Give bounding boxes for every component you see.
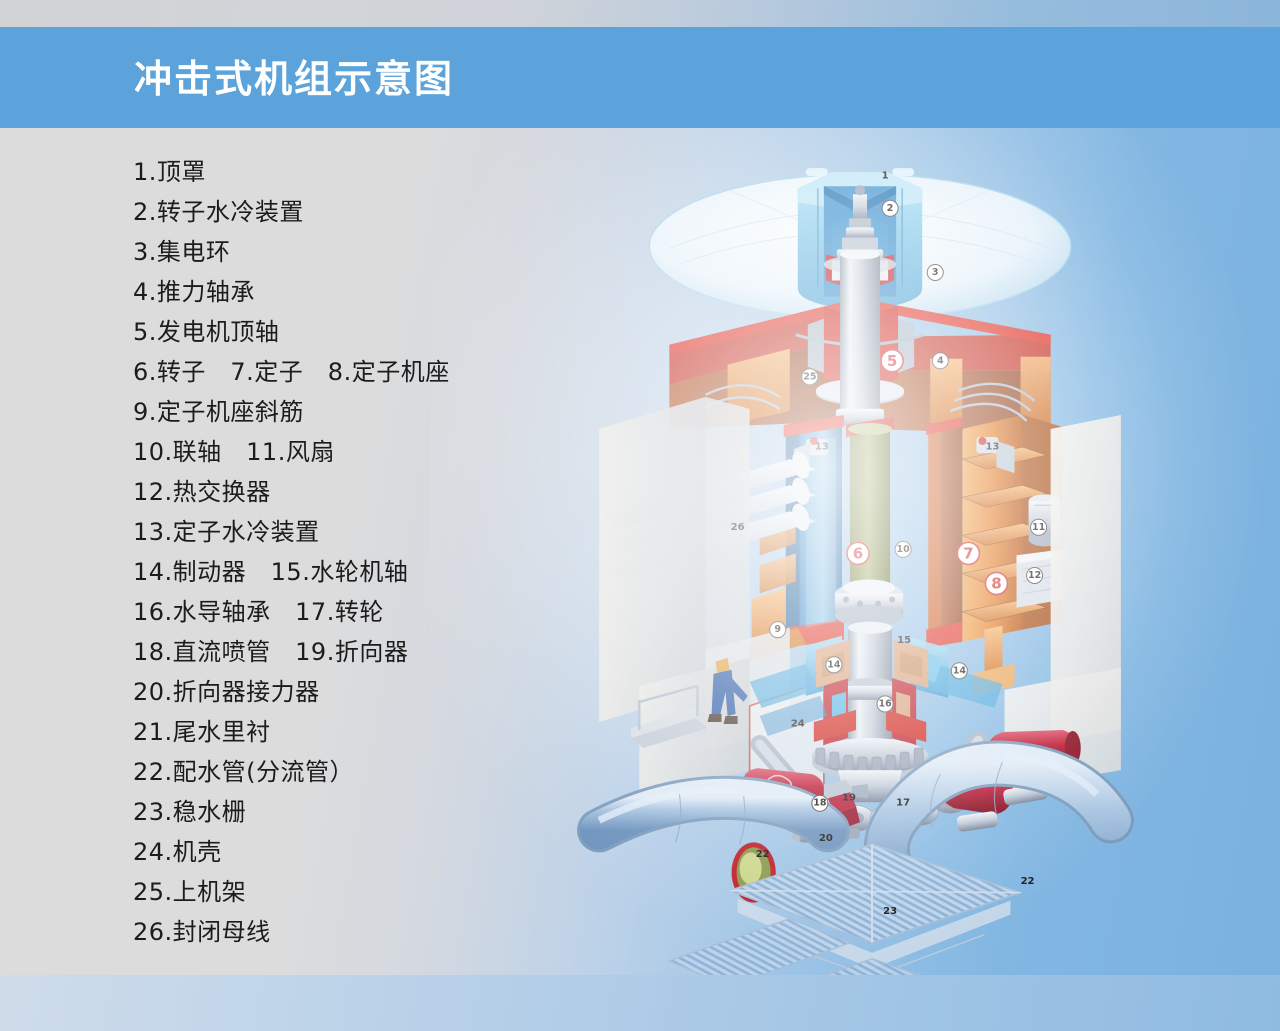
legend-item: 18.直流喷管 19.折向器: [133, 632, 533, 672]
callout-18: 18: [812, 795, 828, 811]
legend-item: 24.机壳: [133, 832, 533, 872]
callout-17: 17: [896, 798, 910, 809]
legend-item: 26.封闭母线: [133, 912, 533, 952]
legend-item: 23.稳水栅: [133, 792, 533, 832]
callout-number: 10: [897, 544, 911, 555]
rotor-pole-core: [846, 417, 894, 592]
coupling-10: [835, 580, 903, 627]
callout-13: 13: [815, 442, 829, 453]
legend-item: 4.推力轴承: [133, 272, 533, 312]
legend-item: 13.定子水冷装置: [133, 512, 533, 552]
callout-number: 14: [953, 665, 967, 676]
callout-number: 22: [756, 849, 770, 860]
legend-item: 20.折向器接力器: [133, 672, 533, 712]
callout-number: 13: [815, 442, 829, 453]
callout-number: 13: [985, 442, 999, 453]
callout-12: 12: [1027, 567, 1043, 583]
callout-15: 15: [897, 635, 911, 646]
callout-13: 13: [985, 442, 999, 453]
legend-item: 22.配水管(分流管）: [133, 752, 533, 792]
callout-number: 18: [813, 798, 827, 809]
slide-root: 1234567891011121313141415161718192022222…: [0, 0, 1280, 1031]
callout-number: 5: [887, 352, 897, 370]
legend-item: 2.转子水冷装置: [133, 192, 533, 232]
callout-number: 15: [897, 635, 911, 646]
callout-number: 14: [827, 659, 841, 670]
legend-item: 14.制动器 15.水轮机轴: [133, 552, 533, 592]
callout-22: 22: [1021, 876, 1035, 887]
callout-11: 11: [1031, 519, 1047, 535]
callout-number: 19: [842, 793, 856, 804]
callout-14: 14: [826, 657, 842, 673]
stator-7: [926, 417, 962, 648]
callout-number: 1: [882, 171, 889, 182]
callout-number: 22: [1021, 876, 1035, 887]
callout-8: 8: [985, 572, 1007, 594]
legend-item: 21.尾水里衬: [133, 712, 533, 752]
callout-number: 2: [887, 203, 894, 214]
generator-top-shaft-5: [836, 249, 884, 425]
callout-number: 16: [878, 698, 892, 709]
turbine-shaft-15: [844, 622, 896, 756]
slide-bottom-strip: [0, 975, 1280, 1031]
callout-16: 16: [877, 696, 893, 712]
callout-5: 5: [881, 350, 903, 372]
callout-26: 26: [731, 522, 745, 533]
legend-item: 25.上机架: [133, 872, 533, 912]
legend-item: 1.顶罩: [133, 152, 533, 192]
legend-item: 10.联轴 11.风扇: [133, 432, 533, 472]
page-title: 冲击式机组示意图: [134, 58, 454, 102]
callout-25: 25: [802, 369, 818, 385]
callout-number: 17: [896, 798, 910, 809]
callout-number: 20: [819, 833, 833, 844]
cutaway-svg: 1234567891011121313141415161718192022222…: [440, 128, 1280, 1031]
callout-number: 26: [731, 522, 745, 533]
callout-number: 11: [1032, 522, 1045, 533]
callout-23: 23: [883, 906, 897, 917]
callout-10: 10: [895, 541, 911, 557]
machine-cutaway-illustration: 1234567891011121313141415161718192022222…: [440, 128, 1280, 1031]
callout-3: 3: [927, 264, 943, 280]
callout-4: 4: [932, 353, 948, 369]
callout-number: 24: [791, 718, 805, 729]
callout-7: 7: [957, 542, 979, 564]
parts-legend-list: 1.顶罩2.转子水冷装置3.集电环4.推力轴承5.发电机顶轴6.转子 7.定子 …: [133, 152, 533, 952]
legend-item: 9.定子机座斜筋: [133, 392, 533, 432]
callout-19: 19: [842, 793, 856, 804]
callout-24: 24: [791, 718, 805, 729]
slide-top-strip: [0, 0, 1280, 27]
callout-22: 22: [756, 849, 770, 860]
legend-item: 3.集电环: [133, 232, 533, 272]
callout-number: 3: [932, 267, 939, 278]
legend-item: 6.转子 7.定子 8.定子机座: [133, 352, 533, 392]
callout-number: 6: [853, 544, 863, 562]
callout-14: 14: [951, 663, 967, 679]
callout-6: 6: [847, 542, 869, 564]
callout-2: 2: [882, 200, 898, 216]
callout-number: 4: [937, 355, 944, 366]
callout-number: 7: [963, 544, 973, 562]
legend-item: 16.水导轴承 17.转轮: [133, 592, 533, 632]
callout-number: 25: [803, 371, 816, 382]
legend-item: 12.热交换器: [133, 472, 533, 512]
callout-number: 12: [1028, 570, 1041, 581]
callout-1: 1: [882, 171, 889, 182]
callout-number: 9: [774, 624, 781, 635]
callout-number: 23: [883, 906, 897, 917]
callout-number: 8: [991, 575, 1001, 593]
legend-item: 5.发电机顶轴: [133, 312, 533, 352]
callout-9: 9: [770, 622, 786, 638]
callout-20: 20: [819, 833, 833, 844]
